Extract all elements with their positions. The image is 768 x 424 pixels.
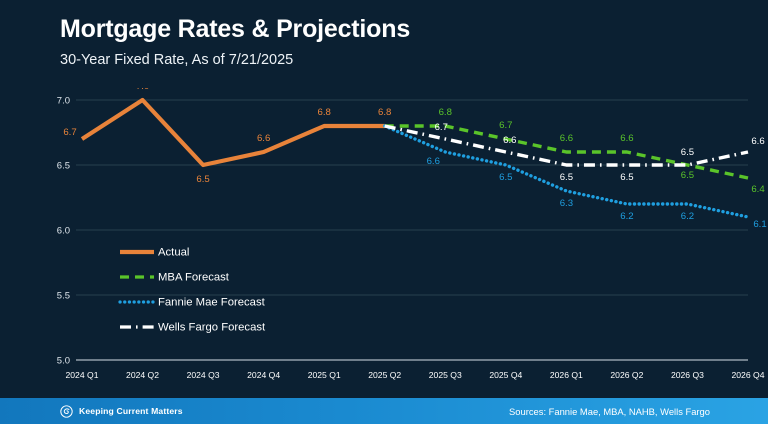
x-axis-tick-label: 2024 Q4 [247, 370, 280, 380]
data-point-label: 6.8 [378, 107, 391, 118]
y-axis-tick-label: 6.0 [57, 225, 70, 236]
data-point-label: 6.6 [503, 135, 516, 146]
brand-logo-text: Keeping Current Matters [79, 406, 183, 416]
y-axis-tick-label: 7.0 [57, 95, 70, 106]
data-point-label: 6.7 [499, 120, 512, 131]
legend-label: Actual [158, 246, 189, 258]
data-point-label: 6.4 [751, 184, 765, 195]
data-point-label: 6.7 [63, 127, 76, 138]
chart-plot-area: 5.05.56.06.57.02024 Q12024 Q22024 Q32024… [0, 88, 768, 388]
x-axis-tick-label: 2026 Q1 [550, 370, 583, 380]
data-point-label: 6.6 [620, 133, 633, 144]
x-axis-tick-label: 2025 Q2 [368, 370, 401, 380]
data-point-label: 6.8 [439, 107, 452, 118]
x-axis-tick-label: 2026 Q3 [671, 370, 704, 380]
data-point-label: 6.5 [196, 174, 209, 185]
line-chart-svg: 5.05.56.06.57.02024 Q12024 Q22024 Q32024… [0, 88, 768, 388]
data-point-label: 6.8 [318, 107, 331, 118]
slide-canvas: Mortgage Rates & Projections 30-Year Fix… [0, 0, 768, 424]
data-point-label: 7.0 [136, 88, 149, 92]
sources-note: Sources: Fannie Mae, MBA, NAHB, Wells Fa… [509, 398, 710, 424]
legend-label: MBA Forecast [158, 271, 230, 283]
data-point-label: 6.5 [620, 172, 633, 183]
y-axis-tick-label: 5.5 [57, 290, 70, 301]
page-subtitle: 30-Year Fixed Rate, As of 7/21/2025 [60, 53, 700, 69]
x-axis-tick-label: 2025 Q3 [429, 370, 462, 380]
data-point-label: 6.1 [753, 219, 766, 230]
data-point-label: 6.2 [620, 211, 633, 222]
x-axis-tick-label: 2025 Q1 [308, 370, 341, 380]
x-axis-tick-label: 2026 Q4 [732, 370, 765, 380]
x-axis-tick-label: 2024 Q1 [66, 370, 99, 380]
x-axis-tick-label: 2024 Q3 [187, 370, 220, 380]
y-axis-tick-label: 6.5 [57, 160, 70, 171]
legend-label: Wells Fargo Forecast [158, 321, 266, 333]
spiral-logo-icon [60, 405, 73, 418]
data-point-label: 6.3 [560, 198, 573, 209]
chart-header: Mortgage Rates & Projections 30-Year Fix… [60, 16, 700, 68]
data-point-label: 6.6 [427, 156, 440, 167]
data-point-label: 6.5 [499, 172, 512, 183]
brand-logo: Keeping Current Matters [60, 398, 183, 424]
data-point-label: 6.2 [681, 211, 694, 222]
x-axis-tick-label: 2024 Q2 [126, 370, 159, 380]
data-point-label: 6.5 [560, 172, 573, 183]
data-point-label: 6.5 [681, 147, 694, 158]
footer-bar: Keeping Current Matters Sources: Fannie … [0, 398, 768, 424]
data-point-label: 6.6 [560, 133, 573, 144]
y-axis-tick-label: 5.0 [57, 355, 70, 366]
x-axis-tick-label: 2026 Q2 [610, 370, 643, 380]
data-point-label: 6.5 [681, 170, 694, 181]
series-line [82, 100, 385, 165]
data-point-label: 6.7 [435, 122, 448, 133]
x-axis-tick-label: 2025 Q4 [489, 370, 522, 380]
page-title: Mortgage Rates & Projections [60, 16, 700, 44]
data-point-label: 6.6 [751, 136, 764, 147]
data-point-label: 6.6 [257, 133, 270, 144]
legend-label: Fannie Mae Forecast [158, 296, 266, 308]
